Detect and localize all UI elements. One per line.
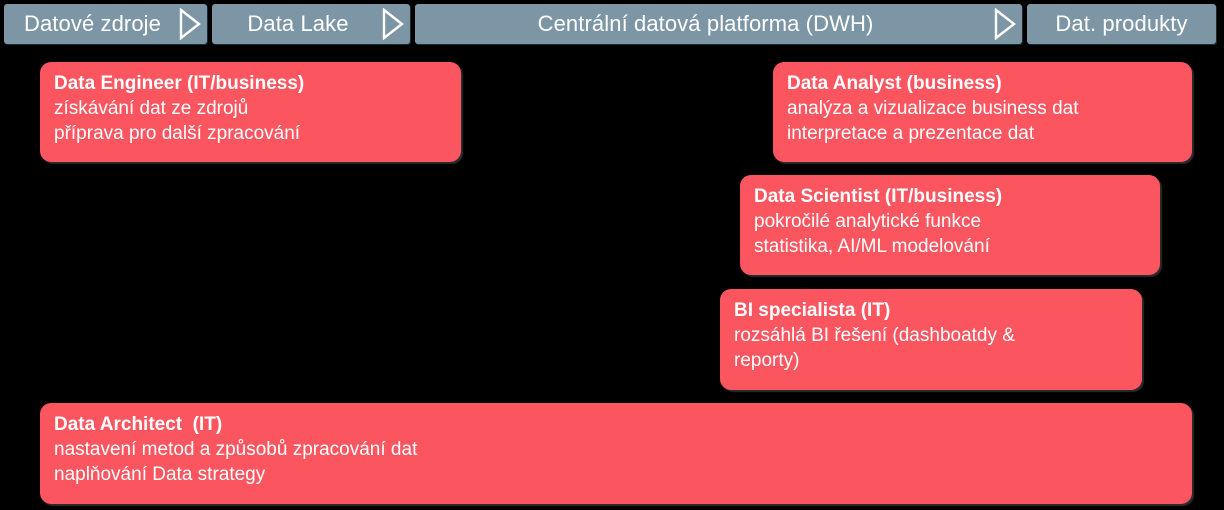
role-card-title: Data Architect (IT) (54, 412, 1192, 437)
role-card-title: Data Analyst (business) (787, 71, 1192, 96)
role-card-line: pokročilé analytické funkce (754, 209, 1160, 234)
role-card-data-architect[interactable]: Data Architect (IT) nastavení metod a zp… (40, 403, 1192, 504)
role-card-line: příprava pro další zpracování (54, 121, 461, 146)
pipeline-stage-centralni-datova-platforma[interactable]: Centrální datová platforma (DWH) (415, 4, 1022, 44)
role-card-line: analýza a vizualizace business dat (787, 96, 1192, 121)
role-card-title: Data Scientist (IT/business) (754, 184, 1160, 209)
pipeline-stage-dat-produkty[interactable]: Dat. produkty (1027, 4, 1216, 44)
role-card-line: nastavení metod a způsobů zpracování dat (54, 437, 1192, 462)
role-card-line: získávání dat ze zdrojů (54, 96, 461, 121)
role-card-data-engineer[interactable]: Data Engineer (IT/business) získávání da… (40, 62, 461, 162)
role-card-title: Data Engineer (IT/business) (54, 71, 461, 96)
pipeline-stage-datove-zdroje[interactable]: Datové zdroje (4, 4, 207, 44)
pipeline-stage-label: Dat. produkty (1055, 12, 1187, 36)
pipeline-stage-label: Centrální datová platforma (DWH) (538, 12, 874, 36)
role-card-line: interpretace a prezentace dat (787, 121, 1192, 146)
chevron-right-icon (179, 8, 201, 40)
role-card-line: rozsáhlá BI řešení (dashboatdy & (734, 323, 1142, 348)
chevron-right-icon (382, 8, 404, 40)
role-card-line: naplňování Data strategy (54, 462, 1192, 487)
pipeline-stage-label: Data Lake (247, 12, 348, 36)
role-card-title: BI specialista (IT) (734, 298, 1142, 323)
pipeline-header: Datové zdroje Data Lake Centrální datová… (0, 0, 1224, 48)
role-card-line: reporty) (734, 348, 1142, 373)
chevron-right-icon (994, 8, 1016, 40)
role-card-data-analyst[interactable]: Data Analyst (business) analýza a vizual… (773, 62, 1192, 162)
pipeline-stage-data-lake[interactable]: Data Lake (212, 4, 410, 44)
role-card-bi-specialist[interactable]: BI specialista (IT) rozsáhlá BI řešení (… (720, 289, 1142, 390)
pipeline-stage-label: Datové zdroje (24, 12, 161, 36)
role-card-data-scientist[interactable]: Data Scientist (IT/business) pokročilé a… (740, 175, 1160, 275)
role-card-line: statistika, AI/ML modelování (754, 234, 1160, 259)
